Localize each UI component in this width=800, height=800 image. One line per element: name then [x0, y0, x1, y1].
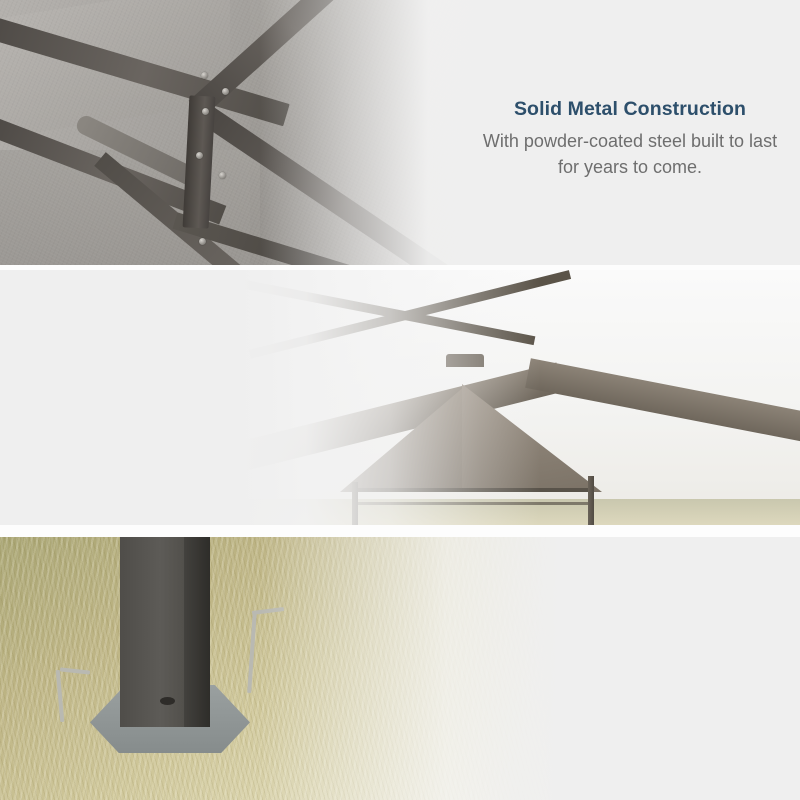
post-anchor-hole [160, 697, 175, 705]
photo-fade-right [260, 537, 560, 800]
feature-panel-steady-and-stable-design: Steady and Stable Design This Gazebo off… [0, 537, 800, 800]
bolt-icon [196, 152, 203, 159]
product-feature-infographic: Solid Metal Construction With powder-coa… [0, 0, 800, 800]
photo-fade-left [240, 270, 540, 525]
gazebo-canopy-outdoor-photo [240, 270, 800, 525]
photo-fade-right [260, 0, 500, 265]
bolt-icon [222, 88, 229, 95]
panel-divider-2 [0, 525, 800, 537]
gazebo-post-base-ground-stakes-photo [0, 537, 560, 800]
bolt-icon [202, 108, 209, 115]
feature-panel-weather-resistant-canopy-top: Weather-resistant Canopy Top The canopy … [0, 270, 800, 525]
gazebo-post-right [588, 476, 594, 525]
bolt-icon [219, 172, 226, 179]
bolt-icon [199, 238, 206, 245]
feature-text-solid-metal-construction: Solid Metal Construction With powder-coa… [470, 97, 790, 181]
feature-heading: Solid Metal Construction [470, 97, 790, 121]
feature-panel-solid-metal-construction: Solid Metal Construction With powder-coa… [0, 0, 800, 265]
feature-body: With powder-coated steel built to last f… [470, 128, 790, 180]
gazebo-frame-underside-photo [0, 0, 500, 265]
bolt-icon [201, 72, 208, 79]
